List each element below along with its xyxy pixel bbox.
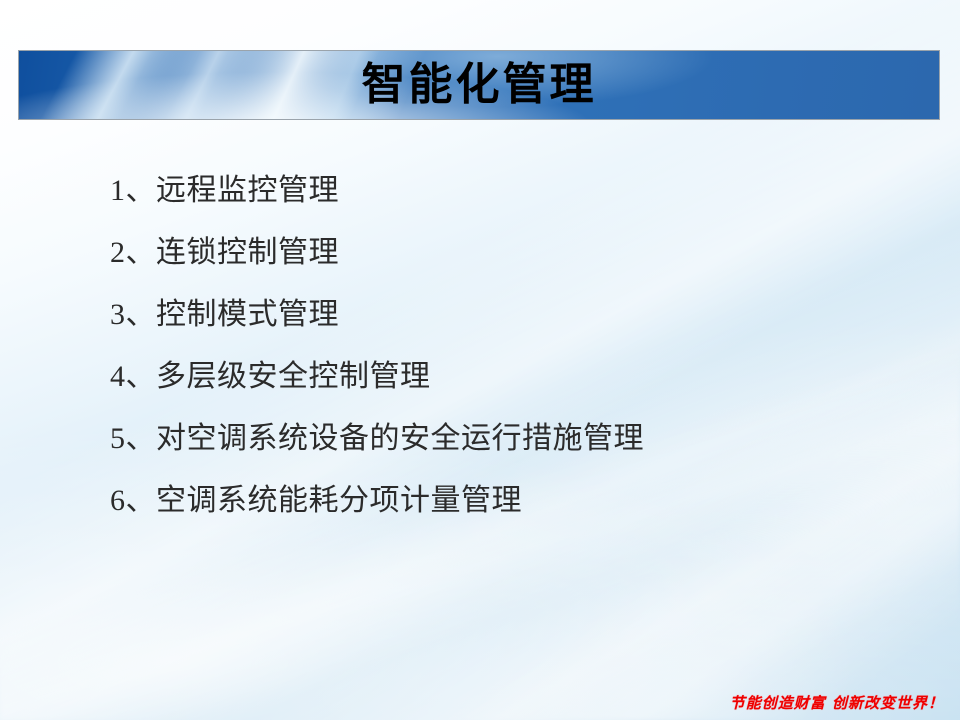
list-item: 3、控制模式管理 bbox=[110, 284, 910, 346]
list-item-number: 2、 bbox=[110, 236, 156, 269]
list-item-number: 5、 bbox=[110, 422, 156, 455]
slide-title: 智能化管理 bbox=[19, 63, 939, 107]
list-item-number: 1、 bbox=[110, 174, 156, 207]
list-item: 5、对空调系统设备的安全运行措施管理 bbox=[110, 408, 910, 470]
list-item-label: 多层级安全控制管理 bbox=[156, 359, 431, 394]
list-item-number: 6、 bbox=[110, 484, 156, 517]
presentation-slide: 智能化管理 1、远程监控管理 2、连锁控制管理 3、控制模式管理 4、多层级安全… bbox=[0, 0, 960, 720]
list-item-label: 远程监控管理 bbox=[156, 173, 339, 208]
list-item: 6、空调系统能耗分项计量管理 bbox=[110, 470, 910, 532]
title-banner: 智能化管理 bbox=[18, 50, 940, 120]
numbered-content-list: 1、远程监控管理 2、连锁控制管理 3、控制模式管理 4、多层级安全控制管理 5… bbox=[110, 160, 910, 532]
list-item: 2、连锁控制管理 bbox=[110, 222, 910, 284]
list-item-label: 控制模式管理 bbox=[156, 297, 339, 332]
list-item-number: 4、 bbox=[110, 360, 156, 393]
list-item-number: 3、 bbox=[110, 298, 156, 331]
list-item: 1、远程监控管理 bbox=[110, 160, 910, 222]
list-item-label: 连锁控制管理 bbox=[156, 235, 339, 270]
list-item-label: 对空调系统设备的安全运行措施管理 bbox=[156, 421, 644, 456]
list-item-label: 空调系统能耗分项计量管理 bbox=[156, 483, 522, 518]
list-item: 4、多层级安全控制管理 bbox=[110, 346, 910, 408]
footer-slogan: 节能创造财富 创新改变世界！ bbox=[730, 694, 944, 712]
